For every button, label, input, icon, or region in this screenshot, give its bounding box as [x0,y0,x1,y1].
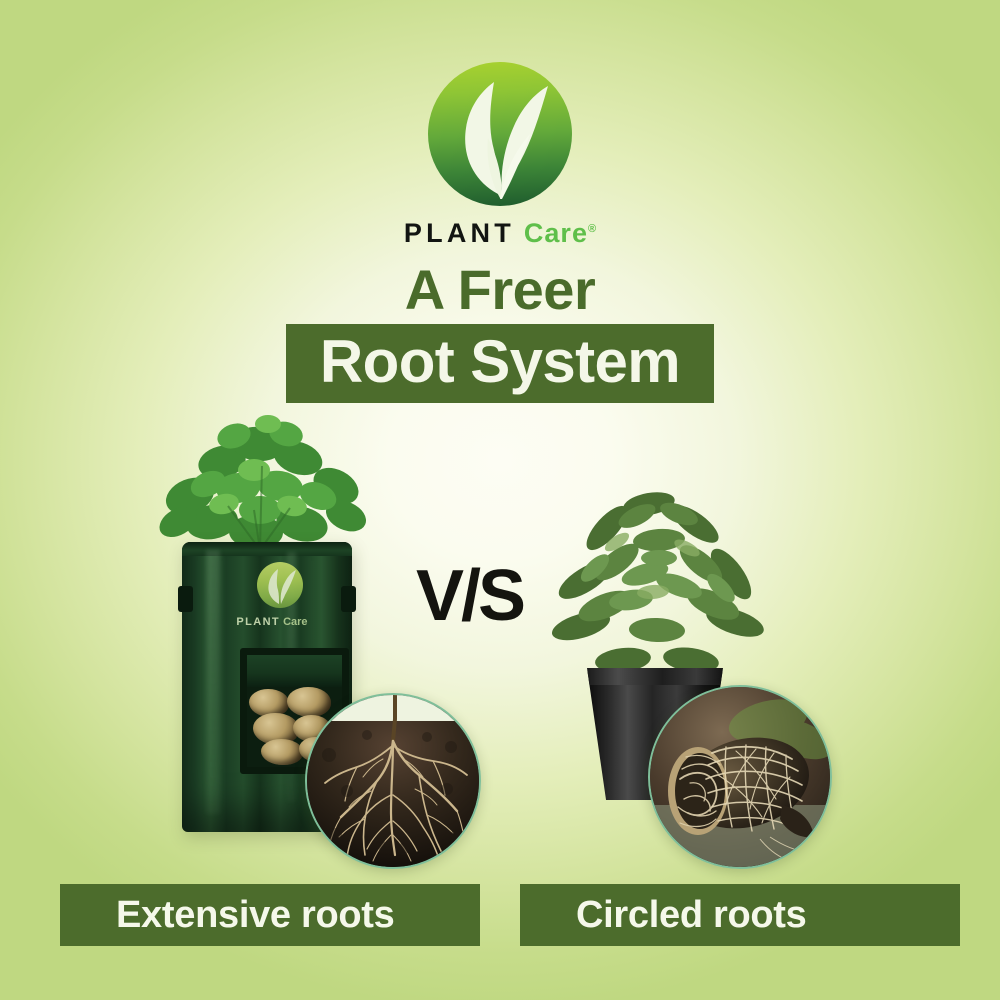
circled-rootbound-photo-icon [648,685,832,869]
grow-bag-highlight [206,550,220,814]
label-circled-roots: Circled roots [576,896,806,934]
headline-banner: Root System [286,324,714,403]
registered-mark-icon: ® [588,223,596,235]
leaf-circle-logo-icon [428,62,572,206]
grow-bag-leaf-logo-icon [257,562,303,608]
brand-logo-block: PLANTCare® [0,62,1000,247]
grow-bag-brand-primary: PLANT [236,616,280,628]
grow-bag-flap-lid [245,653,344,687]
label-banner-extensive-roots: Extensive roots [60,884,480,946]
brand-name-primary: PLANT [404,218,515,248]
extensive-roots-photo-icon [305,693,481,869]
label-banner-circled-roots: Circled roots [520,884,960,946]
brand-name-secondary: Care [524,218,588,248]
potted-bush-foliage-icon [545,470,775,685]
potato-plant-foliage-icon [150,400,390,560]
brand-wordmark: PLANTCare® [0,220,1000,247]
grow-bag-handle-right [341,586,356,612]
label-extensive-roots: Extensive roots [116,896,395,934]
page-title: A Freer Root System [0,262,1000,403]
versus-divider-label: V/S [416,560,523,632]
poster-canvas: PLANTCare® A Freer Root System [0,0,1000,1000]
headline-line2: Root System [320,331,680,392]
nursery-pot-rim [581,668,729,685]
headline-line1: A Freer [0,262,1000,318]
grow-bag-handle-left [178,586,193,612]
grow-bag-wordmark: PLANTCare [236,616,307,628]
grow-bag-brand-secondary: Care [283,616,307,628]
